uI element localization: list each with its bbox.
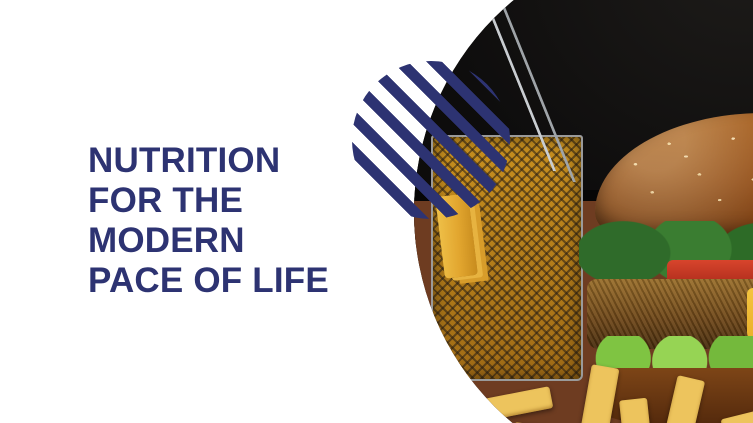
headline-line-2: FOR THE [88,181,338,221]
headline-line-4: PACE OF LIFE [88,261,338,301]
presentation-slide: NUTRITION FOR THE MODERN PACE OF LIFE [0,0,753,423]
headline-line-1: NUTRITION [88,141,338,181]
headline-line-3: MODERN [88,221,338,261]
striped-circle-decoration [352,61,510,219]
page-title: NUTRITION FOR THE MODERN PACE OF LIFE [88,141,338,301]
diagonal-stripes [352,61,510,219]
